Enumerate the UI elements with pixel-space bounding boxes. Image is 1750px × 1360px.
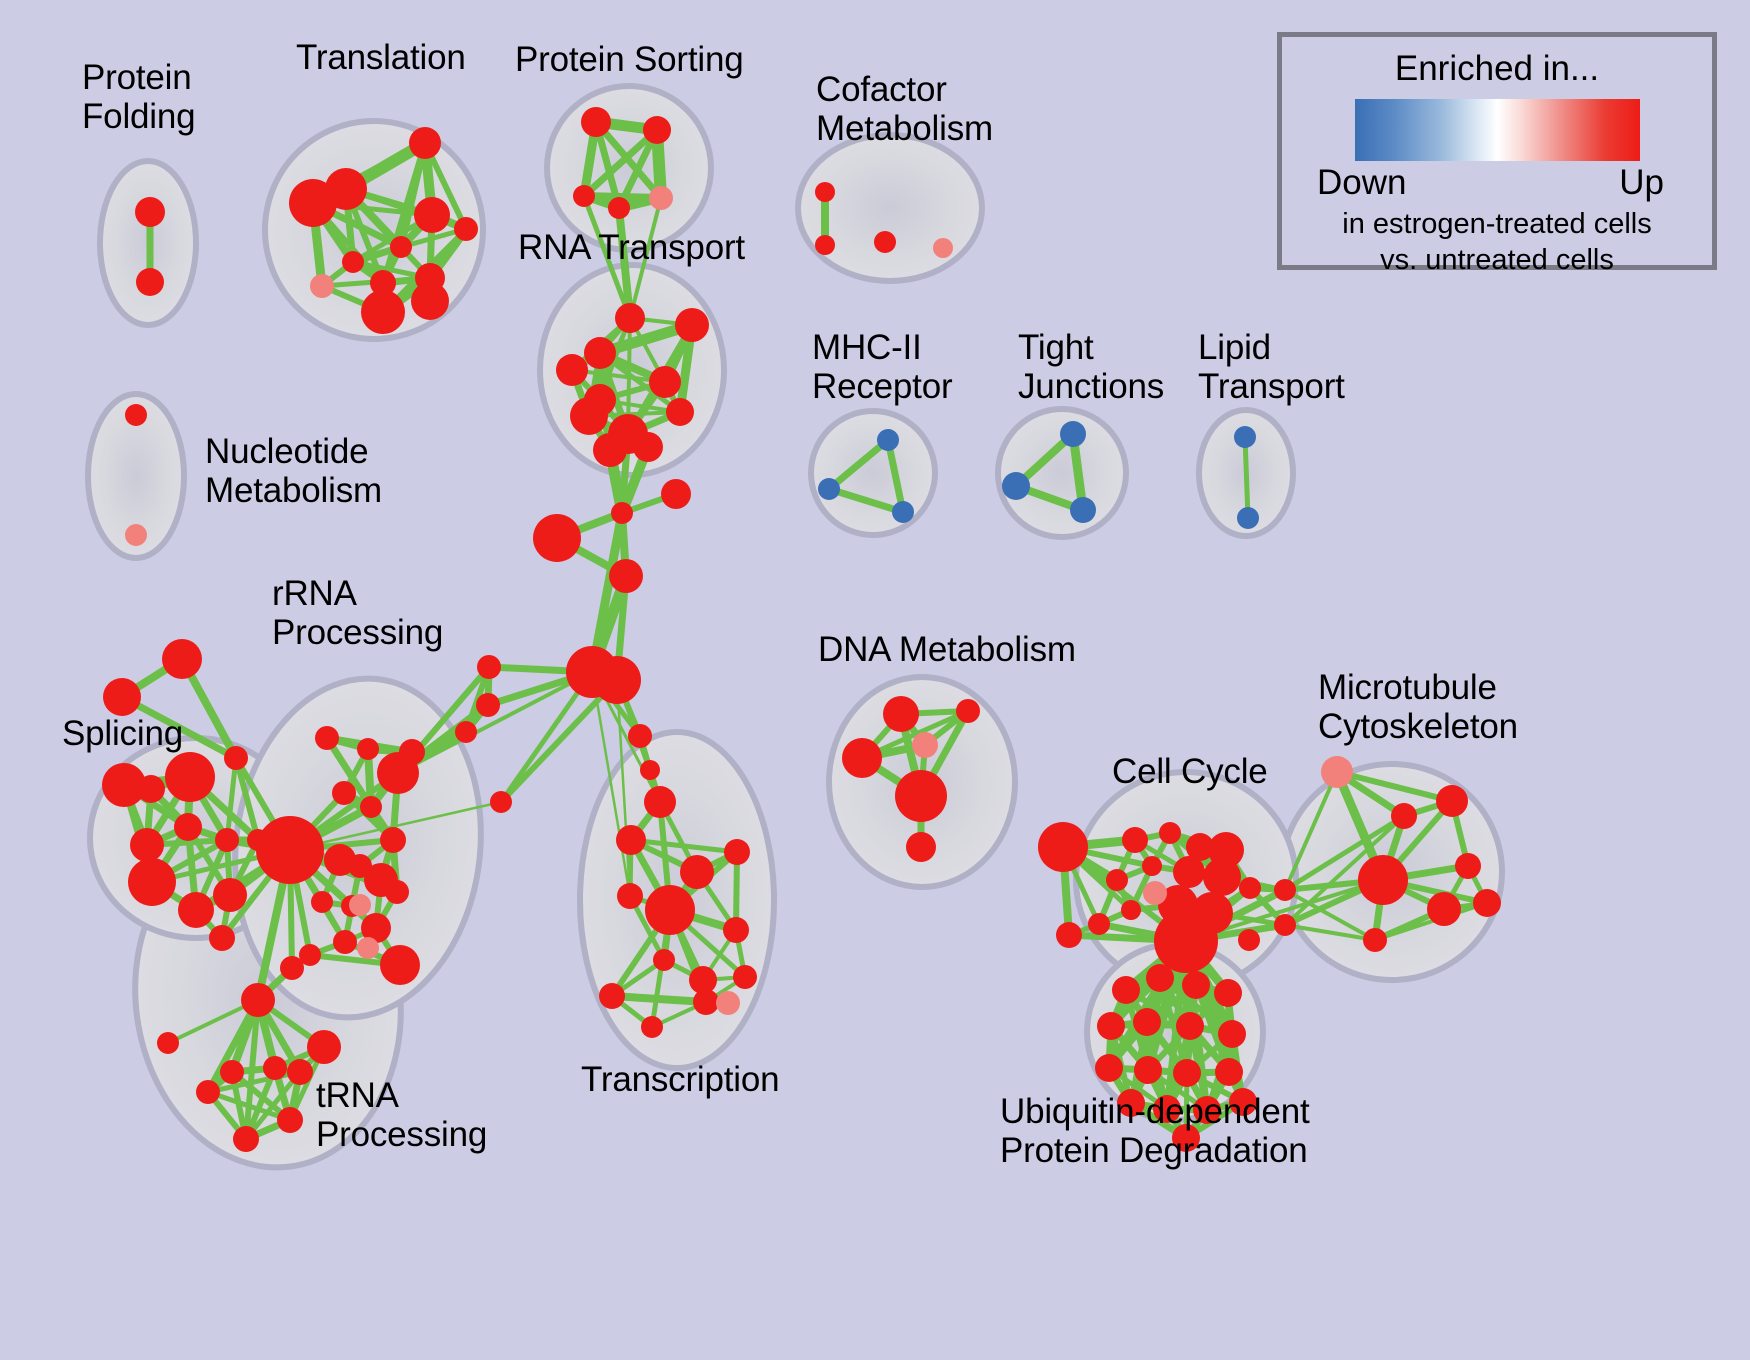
cluster-label-translation: Translation [296,38,466,77]
legend-panel: Enriched in... Down Up in estrogen-treat… [1277,32,1717,270]
cluster-label-transcription: Transcription [581,1060,779,1099]
cluster-label-dna-metabolism: DNA Metabolism [818,630,1076,669]
nodes-central-chain [455,479,691,813]
legend-up-label: Up [1619,163,1664,203]
cluster-halo-protein-sorting [547,86,711,250]
cluster-label-nucleotide-metabolism: Nucleotide Metabolism [205,432,382,510]
legend-caption-line1: in estrogen-treated cells [1282,207,1712,241]
cluster-label-protein-folding: Protein Folding [82,58,195,136]
legend-caption-line2: vs. untreated cells [1282,243,1712,277]
cluster-label-cofactor-metabolism: Cofactor Metabolism [816,70,993,148]
cluster-label-splicing: Splicing [62,714,183,753]
cluster-label-microtubule-cytoskeleton: Microtubule Cytoskeleton [1318,668,1518,746]
network-canvas: Protein Folding Translation Protein Sort… [0,0,1750,1360]
legend-title: Enriched in... [1282,49,1712,89]
legend-color-ramp [1355,99,1640,161]
cluster-label-cell-cycle: Cell Cycle [1112,752,1268,791]
edges-lipid-transport [1245,437,1248,518]
legend-down-label: Down [1317,163,1406,203]
cluster-label-tight-junctions: Tight Junctions [1018,328,1164,406]
cluster-label-mhc-ii-receptor: MHC-II Receptor [812,328,952,406]
cluster-label-trna-processing: tRNA Processing [316,1076,487,1154]
cluster-label-protein-sorting: Protein Sorting [515,40,744,79]
cluster-label-rna-transport: RNA Transport [518,228,745,267]
cluster-label-ubiquitin-protein-degradation: Ubiquitin-dependent Protein Degradation [1000,1092,1310,1170]
cluster-label-lipid-transport: Lipid Transport [1198,328,1345,406]
cluster-label-rrna-processing: rRNA Processing [272,574,443,652]
cluster-halo-mhc-ii-receptor [811,411,935,535]
